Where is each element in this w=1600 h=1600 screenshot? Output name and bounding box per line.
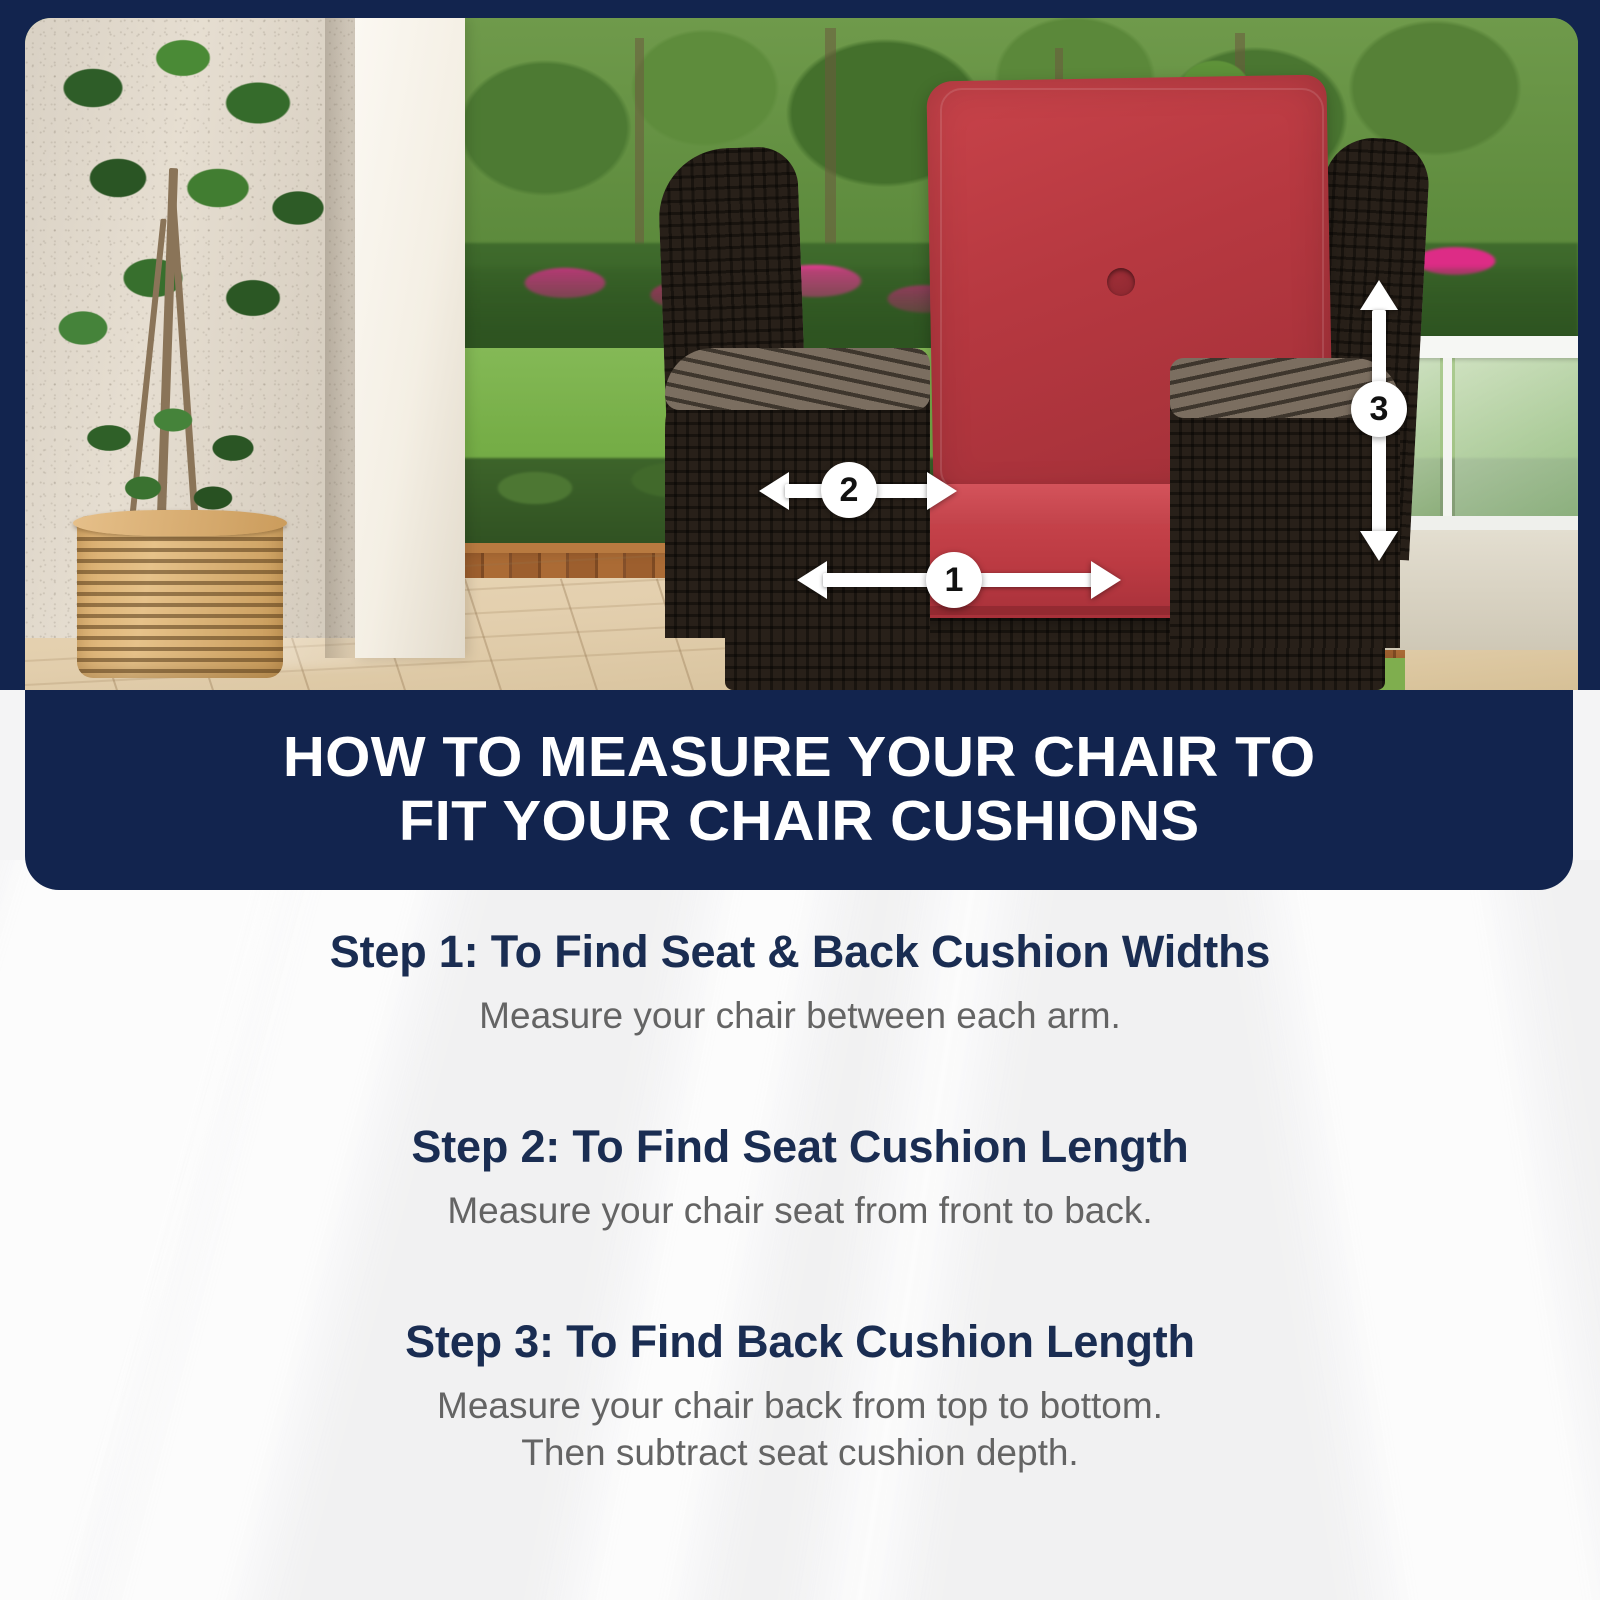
measure-badge-2: 2 (821, 462, 877, 518)
plant-foliage-upper (43, 28, 333, 358)
hero-photo: 1 2 3 (25, 18, 1578, 690)
measure-arrow-2-head-right (927, 472, 957, 510)
step-3-subtitle: Measure your chair back from top to bott… (0, 1383, 1600, 1476)
step-3-title: Step 3: To Find Back Cushion Length (0, 1317, 1600, 1367)
cushion-tuft-button (1107, 268, 1135, 296)
measure-arrow-3-head-down (1360, 531, 1398, 561)
measure-badge-3: 3 (1351, 381, 1407, 437)
step-block-3: Step 3: To Find Back Cushion Length Meas… (0, 1317, 1600, 1477)
headline-text: HOW TO MEASURE YOUR CHAIR TO FIT YOUR CH… (283, 726, 1316, 854)
steps-section: Step 1: To Find Seat & Back Cushion Widt… (0, 905, 1600, 1477)
measure-badge-1: 1 (926, 552, 982, 608)
chair-arm-left-top (665, 348, 930, 410)
step-2-title: Step 2: To Find Seat Cushion Length (0, 1122, 1600, 1172)
step-2-subtitle: Measure your chair seat from front to ba… (0, 1188, 1600, 1235)
tree-trunk (635, 38, 644, 248)
step-block-2: Step 2: To Find Seat Cushion Length Meas… (0, 1122, 1600, 1235)
rattan-planter-rim (73, 510, 287, 536)
infographic-canvas: 1 2 3 HOW TO MEASURE YOUR CHAIR TO FIT Y… (0, 0, 1600, 1600)
glass-pane (1455, 358, 1578, 516)
tree-trunk (825, 28, 836, 258)
step-1-subtitle: Measure your chair between each arm. (0, 993, 1600, 1040)
measure-arrow-1-head-right (1091, 561, 1121, 599)
headline-banner: HOW TO MEASURE YOUR CHAIR TO FIT YOUR CH… (25, 690, 1573, 890)
rattan-planter-slats (77, 530, 283, 678)
step-block-1: Step 1: To Find Seat & Back Cushion Widt… (0, 927, 1600, 1040)
measure-arrow-3-head-up (1360, 280, 1398, 310)
step-1-title: Step 1: To Find Seat & Back Cushion Widt… (0, 927, 1600, 977)
white-column (355, 18, 465, 658)
